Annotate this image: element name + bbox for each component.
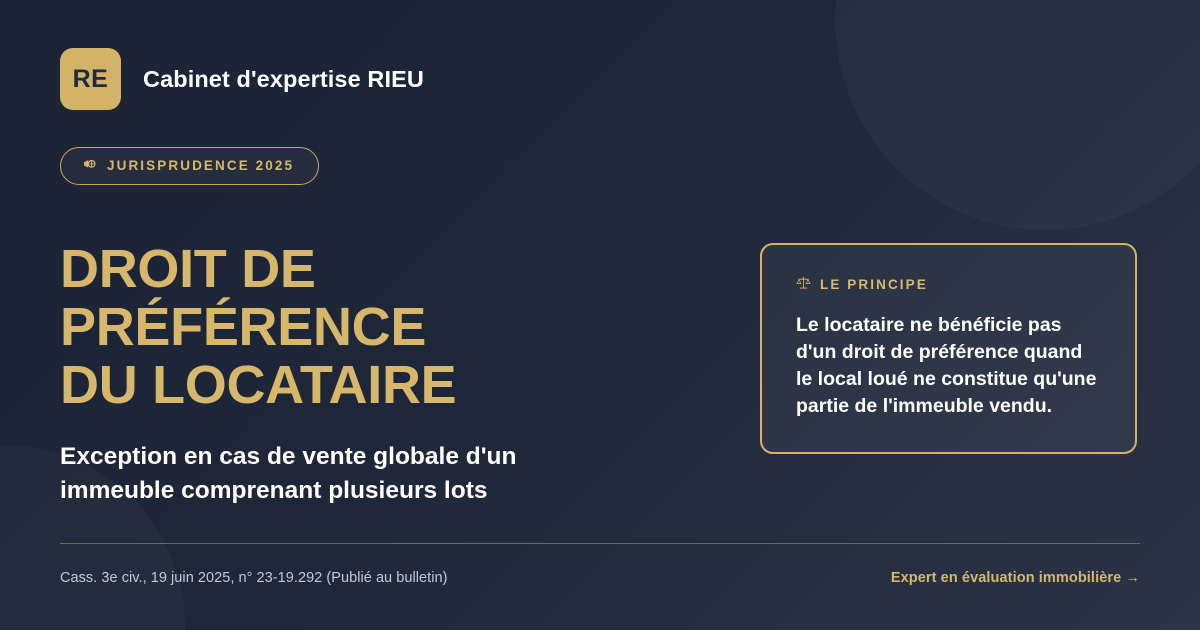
footer: Cass. 3e civ., 19 juin 2025, n° 23-19.29… bbox=[60, 543, 1140, 587]
headline-line-3: DU LOCATAIRE bbox=[60, 357, 760, 415]
footer-divider bbox=[60, 543, 1140, 545]
subtitle: Exception en cas de vente globale d'un i… bbox=[60, 440, 660, 507]
brand-name: Cabinet d'expertise RIEU bbox=[143, 66, 424, 93]
headline-line-2: PRÉFÉRENCE bbox=[60, 299, 760, 357]
page-title: DROIT DE PRÉFÉRENCE DU LOCATAIRE bbox=[60, 241, 760, 414]
poster-content: RE Cabinet d'expertise RIEU JURISPRUDENC… bbox=[0, 0, 1200, 630]
principle-card: LE PRINCIPE Le locataire ne bénéficie pa… bbox=[760, 243, 1137, 454]
badge-label: JURISPRUDENCE 2025 bbox=[107, 158, 294, 173]
principle-card-label: LE PRINCIPE bbox=[820, 277, 928, 292]
scales-of-justice-icon bbox=[796, 276, 811, 292]
gavel-icon bbox=[83, 158, 98, 173]
brand-header: RE Cabinet d'expertise RIEU bbox=[60, 48, 1140, 110]
logo-mark: RE bbox=[60, 48, 121, 110]
headline-line-1: DROIT DE bbox=[60, 241, 760, 299]
subtitle-line-2: immeuble comprenant plusieurs lots bbox=[60, 474, 660, 507]
main-section: DROIT DE PRÉFÉRENCE DU LOCATAIRE Excepti… bbox=[60, 241, 1140, 507]
case-citation: Cass. 3e civ., 19 juin 2025, n° 23-19.29… bbox=[60, 570, 447, 586]
headline-column: DROIT DE PRÉFÉRENCE DU LOCATAIRE Excepti… bbox=[60, 241, 760, 507]
jurisprudence-poster: RE Cabinet d'expertise RIEU JURISPRUDENC… bbox=[0, 0, 1200, 630]
cta-link[interactable]: Expert en évaluation immobilière → bbox=[891, 570, 1140, 586]
principle-card-header: LE PRINCIPE bbox=[796, 276, 1101, 292]
principle-card-body: Le locataire ne bénéficie pas d'un droit… bbox=[796, 312, 1101, 420]
logo-initials: RE bbox=[73, 65, 109, 94]
subtitle-line-1: Exception en cas de vente globale d'un bbox=[60, 440, 660, 473]
footer-row: Cass. 3e civ., 19 juin 2025, n° 23-19.29… bbox=[60, 570, 1140, 586]
jurisprudence-badge: JURISPRUDENCE 2025 bbox=[60, 147, 319, 185]
